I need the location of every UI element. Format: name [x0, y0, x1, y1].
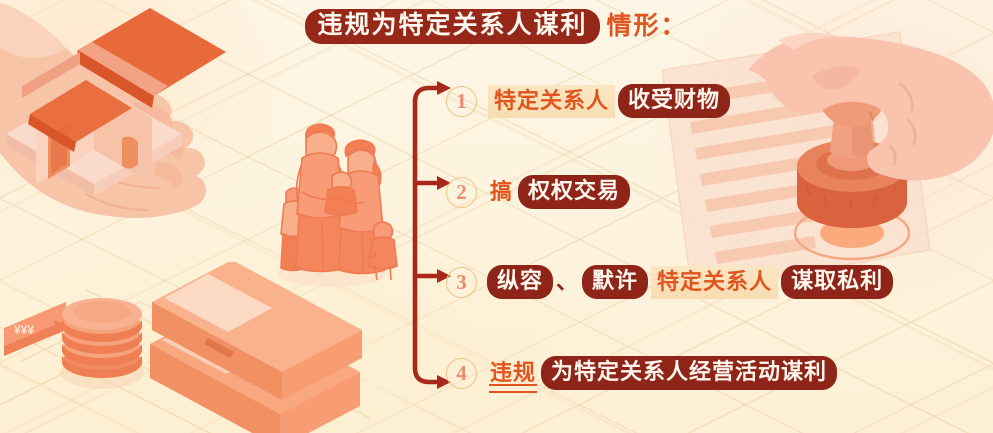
- points-list: 1 特定关系人 收受财物 2 搞 权权交易 3 纵容 、 默许 特定关系人 谋取…: [446, 60, 986, 420]
- banknote-bundles: [150, 262, 362, 433]
- yen-sign-plaque: ¥¥¥: [4, 302, 66, 356]
- item-number-badge: 4: [446, 358, 477, 389]
- coin-stack: [60, 298, 144, 389]
- item-segment-separator: 、: [554, 271, 581, 293]
- item-segment-pill: 纵容: [487, 265, 553, 299]
- infographic-canvas: ¥¥¥: [0, 0, 993, 433]
- item-segment-pill: 权权交易: [518, 175, 630, 209]
- bracket-bottom-curve: [415, 368, 438, 382]
- item-number-badge: 2: [446, 177, 477, 208]
- item-segment-pill: 默许: [582, 265, 648, 299]
- item-segment-plain: 搞: [486, 181, 517, 203]
- list-item[interactable]: 4 违规 为特定关系人经营活动谋利: [446, 353, 838, 393]
- money-stacks-coins-yen-illustration: ¥¥¥: [0, 262, 390, 433]
- item-segment-pill: 谋取私利: [781, 265, 893, 299]
- list-item[interactable]: 1 特定关系人 收受财物: [446, 81, 731, 121]
- bracket-top-curve: [415, 88, 438, 102]
- svg-text:¥¥¥: ¥¥¥: [14, 323, 34, 337]
- list-item[interactable]: 2 搞 权权交易: [446, 172, 631, 212]
- item-segment-pill: 为特定关系人经营活动谋利: [541, 356, 837, 390]
- item-segment-pill: 收受财物: [618, 84, 730, 118]
- title-tail: 情形：: [607, 14, 688, 39]
- list-item[interactable]: 3 纵容 、 默许 特定关系人 谋取私利: [446, 262, 894, 302]
- item-segment-highlight: 特定关系人: [488, 85, 615, 118]
- item-segment-underlined: 违规: [486, 362, 540, 384]
- title-highlight: 违规为特定关系人谋利: [305, 9, 599, 44]
- item-number-badge: 3: [446, 267, 477, 298]
- item-number-badge: 1: [446, 86, 477, 117]
- item-segment-highlight: 特定关系人: [651, 266, 778, 299]
- page-title: 违规为特定关系人谋利 情形：: [0, 6, 993, 46]
